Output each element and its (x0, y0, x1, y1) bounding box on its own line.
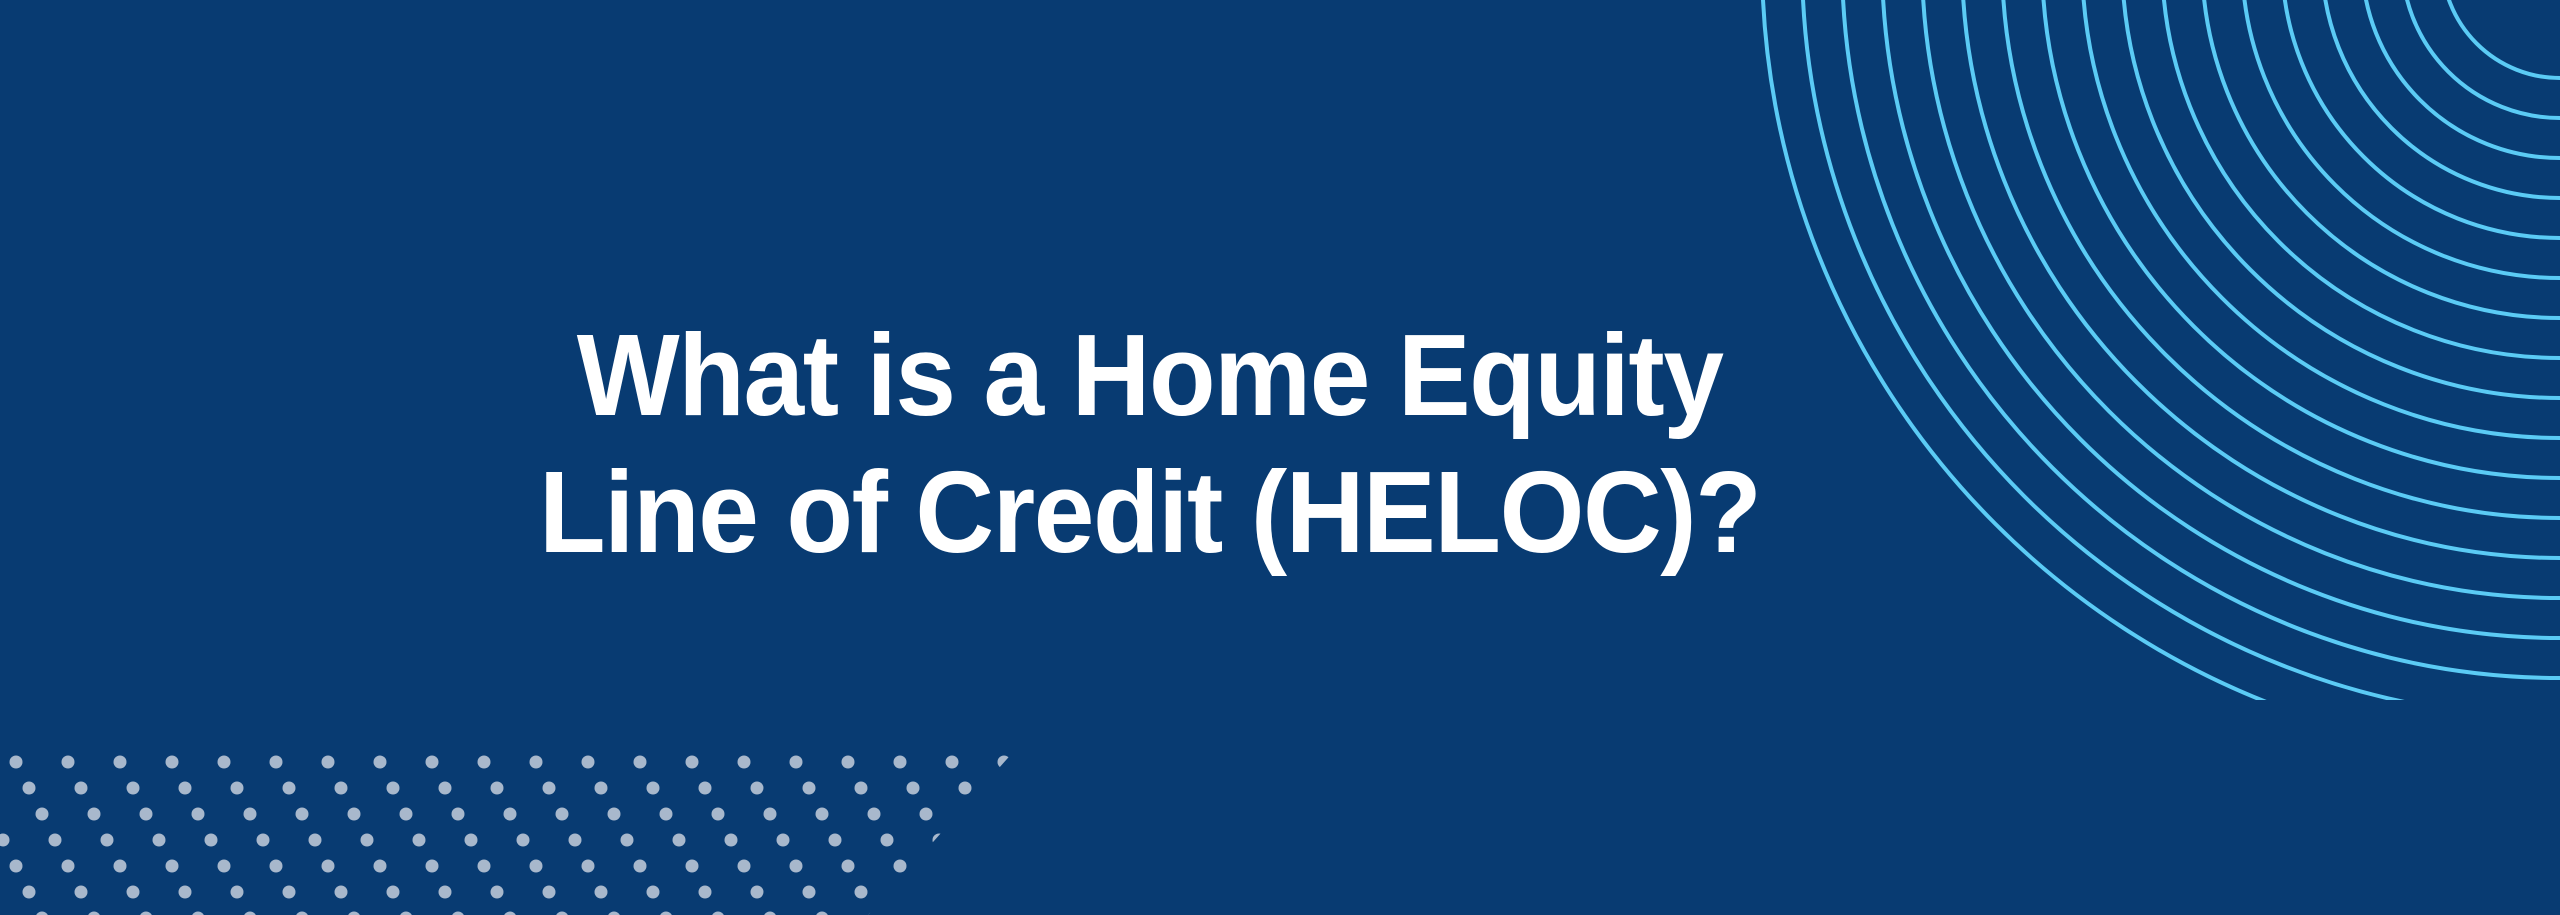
hero-banner: What is a Home Equity Line of Credit (HE… (0, 0, 2560, 915)
page-title: What is a Home Equity Line of Credit (HE… (539, 307, 1760, 581)
hero-content: What is a Home Equity Line of Credit (HE… (0, 0, 2560, 915)
